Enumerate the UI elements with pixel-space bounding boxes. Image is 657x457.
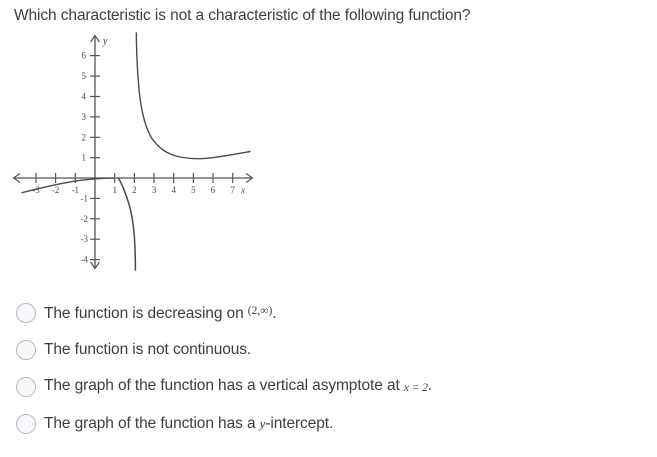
y-tick-label: 1 — [82, 153, 87, 163]
option-math-interval: (2,∞) — [248, 305, 272, 317]
option-label-y-intercept: The graph of the function has a y-interc… — [44, 414, 333, 434]
x-tick-label: 1 — [112, 185, 117, 195]
answer-options-list: The function is decreasing on (2,∞). The… — [0, 294, 657, 442]
function-graph: -3 -2 -1 1 2 3 4 5 6 7 6 5 4 3 2 1 -1 -2… — [0, 28, 280, 280]
y-tick-label: -3 — [81, 234, 89, 244]
option-row-not-continuous[interactable]: The function is not continuous. — [0, 331, 657, 368]
option-text-prefix: The graph of the function has a vertical… — [44, 377, 404, 394]
y-tick-label: 6 — [82, 51, 87, 61]
question-prompt: Which characteristic is not a characteri… — [14, 6, 470, 26]
y-tick-label: -2 — [81, 214, 89, 224]
x-tick-label: 4 — [171, 185, 176, 195]
option-text-prefix: The function is not continuous. — [44, 341, 251, 358]
x-tick-label: 6 — [211, 185, 216, 195]
option-row-y-intercept[interactable]: The graph of the function has a y-interc… — [0, 405, 657, 442]
y-tick-label: 5 — [82, 71, 87, 81]
option-label-decreasing: The function is decreasing on (2,∞). — [44, 301, 277, 324]
radio-button-not-continuous[interactable] — [16, 340, 36, 360]
y-tick-label: 4 — [82, 92, 87, 102]
y-tick-label: -1 — [81, 193, 89, 203]
radio-button-decreasing[interactable] — [16, 303, 36, 323]
x-tick-label: 7 — [230, 185, 235, 195]
x-tick-label: 3 — [152, 185, 157, 195]
curve-right-branch — [136, 33, 250, 159]
x-tick-label: -2 — [52, 185, 60, 195]
option-label-not-continuous: The function is not continuous. — [44, 340, 251, 360]
option-text-suffix: . — [272, 305, 276, 322]
option-text-prefix: The function is decreasing on — [44, 305, 248, 322]
x-tick-labels: -3 -2 -1 1 2 3 4 5 6 7 — [32, 185, 235, 195]
y-axis-label: y — [102, 36, 108, 47]
option-text-suffix: -intercept. — [265, 415, 333, 432]
y-tick-labels: 6 5 4 3 2 1 -1 -2 -3 -4 — [81, 51, 89, 265]
option-row-vertical-asymptote[interactable]: The graph of the function has a vertical… — [0, 368, 657, 405]
option-math-equation: x = 2 — [404, 382, 428, 394]
x-axis — [14, 174, 253, 183]
y-tick-label: 3 — [82, 112, 87, 122]
radio-button-y-intercept[interactable] — [16, 414, 36, 434]
option-label-vertical-asymptote: The graph of the function has a vertical… — [44, 376, 432, 398]
graph-svg: -3 -2 -1 1 2 3 4 5 6 7 6 5 4 3 2 1 -1 -2… — [0, 28, 280, 280]
y-tick-label: 2 — [82, 132, 87, 142]
x-tick-label: -1 — [72, 185, 80, 195]
option-text-prefix: The graph of the function has a — [44, 415, 260, 432]
y-axis — [91, 36, 100, 269]
y-tick-label: -4 — [81, 255, 89, 265]
x-axis-label: x — [240, 185, 245, 195]
radio-button-vertical-asymptote[interactable] — [16, 377, 36, 397]
x-tick-label: 2 — [132, 185, 137, 195]
option-row-decreasing[interactable]: The function is decreasing on (2,∞). — [0, 294, 657, 331]
x-tick-label: 5 — [191, 185, 196, 195]
option-text-suffix: . — [428, 377, 432, 394]
